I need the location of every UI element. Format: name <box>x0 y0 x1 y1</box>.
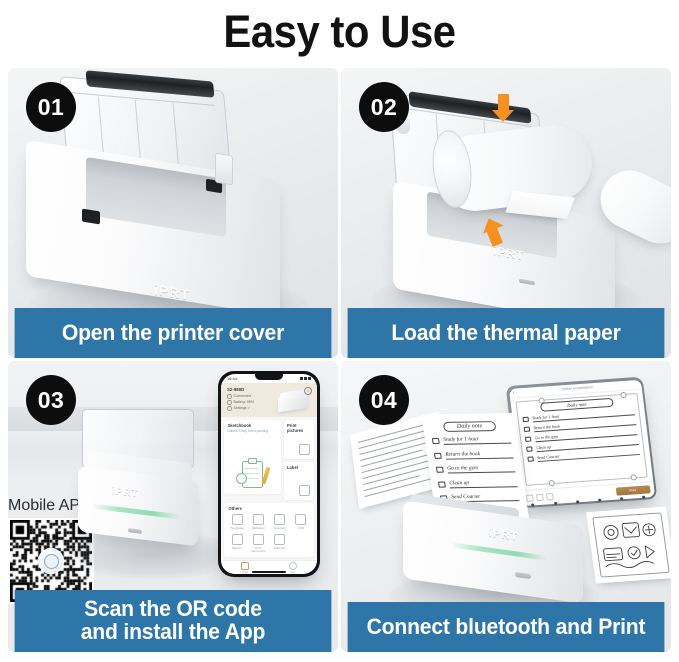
others-item-label: Banner <box>232 547 241 550</box>
step-caption-line: Connect bluetooth and Print <box>367 616 646 639</box>
tab-label: Print <box>242 571 247 574</box>
phone-tab-bar: Print Mine <box>221 560 317 574</box>
product-instruction-graphic: Easy to Use <box>0 0 679 662</box>
others-item-label: OCR <box>298 527 304 530</box>
user-icon <box>289 562 297 570</box>
templates-icon <box>232 514 243 525</box>
wallpaper-icon <box>253 514 264 525</box>
printer-latch <box>215 153 233 186</box>
others-item-label: Templates <box>231 527 244 530</box>
steps-grid: iPRT 01 Open the printer cover <box>8 68 671 659</box>
card-title: Label <box>287 465 311 470</box>
page-title: Easy to Use <box>24 0 655 64</box>
step-number-badge-01: 01 <box>26 82 76 132</box>
close-icon[interactable]: × <box>304 387 312 395</box>
others-item[interactable]: Print documents <box>249 534 268 553</box>
phone-app-body: Sketchbook Bubble Emoji Hand painting <box>221 417 317 560</box>
card-title: Print pictures <box>287 423 311 433</box>
tab-label: Mine <box>290 571 296 574</box>
card-sketchbook[interactable]: Sketchbook Bubble Emoji Hand painting <box>224 420 281 494</box>
card-print-pictures[interactable]: Print pictures <box>284 420 315 459</box>
step-caption-01: Open the printer cover <box>15 308 332 358</box>
others-title: Others <box>229 506 311 511</box>
step-caption-04: Connect bluetooth and Print <box>348 602 665 652</box>
others-item[interactable]: OCR <box>291 514 310 530</box>
others-section: Others Templates Wallpaper Scanning OCR … <box>224 503 314 557</box>
printer-clip-left <box>82 209 100 225</box>
others-icon-grid: Templates Wallpaper Scanning OCR Banner … <box>228 514 311 553</box>
step-caption-line: Load the thermal paper <box>391 322 620 345</box>
step-caption-02: Load the thermal paper <box>348 308 665 358</box>
clipboard-illustration-icon <box>235 458 269 490</box>
step-panel-03: Mobile APP iPRT <box>8 361 338 652</box>
others-item[interactable]: Wallpaper <box>249 514 268 530</box>
card-title: Sketchbook <box>228 423 278 428</box>
feature-cards-side: Print pictures Label <box>284 420 315 500</box>
others-item[interactable]: Scanning <box>270 514 289 530</box>
step-caption-line: Scan the OR code <box>81 598 265 621</box>
others-item[interactable]: Draft box <box>270 534 289 553</box>
step-number-badge-04: 04 <box>359 375 409 425</box>
image-icon <box>299 444 310 455</box>
step-number-badge-03: 03 <box>26 375 76 425</box>
card-subtitle: Bubble Emoji Hand painting <box>228 429 278 433</box>
status-time: 18:44 <box>227 376 237 381</box>
smartphone: 18:44 × S2-980D Connected Battery: 55% S… <box>218 371 320 577</box>
scanning-icon <box>274 514 285 525</box>
printer-body <box>26 140 280 316</box>
others-item-label: Print documents <box>249 547 268 554</box>
feature-cards-row: Sketchbook Bubble Emoji Hand painting <box>224 420 314 500</box>
step-number-badge-02: 02 <box>359 82 409 132</box>
others-item[interactable]: Templates <box>228 514 247 530</box>
connected-device-panel: × S2-980D Connected Battery: 55% Setting… <box>221 383 317 417</box>
step-panel-04: ‹ Sticker presentation Daily note Stud <box>341 361 671 652</box>
others-item[interactable]: Banner <box>228 534 247 553</box>
step-panel-02: iPRT 02 <box>341 68 671 358</box>
phone-notch <box>255 374 283 380</box>
tab-print[interactable]: Print <box>241 562 249 574</box>
others-item-label: Scanning <box>274 527 286 530</box>
home-indicator <box>252 571 286 573</box>
step-caption-line: and install the App <box>81 621 265 644</box>
printer-icon <box>241 562 249 570</box>
others-item-label: Wallpaper <box>252 527 265 530</box>
phone-status-bar: 18:44 <box>221 374 317 383</box>
card-label[interactable]: Label <box>284 462 315 501</box>
status-indicators <box>300 377 311 380</box>
banner-icon <box>232 534 243 545</box>
label-icon <box>299 485 310 496</box>
draft-box-icon <box>274 534 285 545</box>
step-caption-03: Scan the OR code and install the App <box>15 590 332 652</box>
ocr-icon <box>295 514 306 525</box>
step-panel-01: iPRT 01 Open the printer cover <box>8 68 338 358</box>
step-caption-line: Open the printer cover <box>62 322 284 345</box>
tab-mine[interactable]: Mine <box>289 562 297 574</box>
others-item-label: Draft box <box>274 547 286 550</box>
print-documents-icon <box>253 534 264 545</box>
phone-screen: 18:44 × S2-980D Connected Battery: 55% S… <box>221 374 317 574</box>
